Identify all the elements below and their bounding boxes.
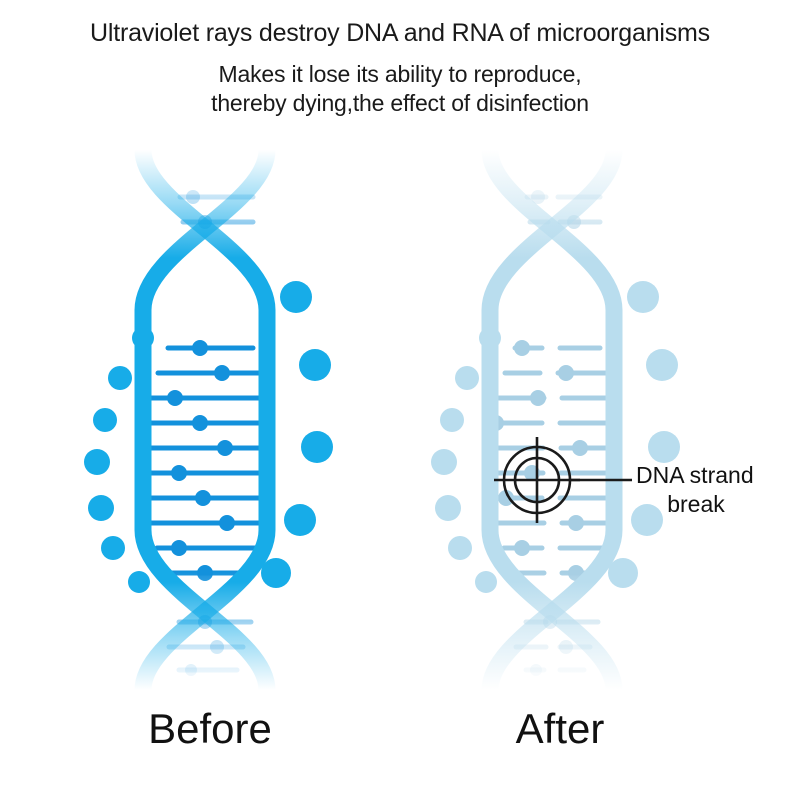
helix-backbone [490, 150, 614, 690]
annotation-line-1: DNA strand [636, 462, 754, 488]
annotation-label: DNA strand break [636, 461, 786, 519]
annotation-line-2: break [636, 490, 756, 519]
caption-before: Before [60, 705, 360, 753]
caption-after: After [410, 705, 710, 753]
dna-panel-before [84, 150, 333, 690]
dna-comparison-illustration [0, 0, 800, 800]
infographic-canvas: Ultraviolet rays destroy DNA and RNA of … [0, 0, 800, 800]
dna-panel-after [431, 150, 680, 690]
